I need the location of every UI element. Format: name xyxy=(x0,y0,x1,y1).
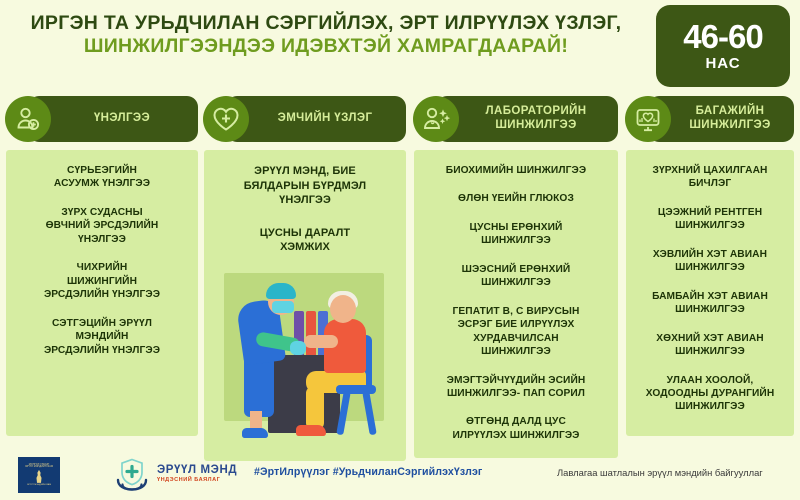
list-item: БИОХИМИЙН ШИНЖИЛГЭЭ xyxy=(420,164,612,177)
column-header-doctor-exam: ЭМЧИЙН ҮЗЛЭГ xyxy=(226,96,406,142)
ministry-of-health-logo: МОНГОЛ УЛСЫН ЭРҮҮЛ МЭНДИЙН ЯАМ ЭРҮҮЛ МЭН… xyxy=(18,457,60,493)
illustration-patient-shin xyxy=(306,387,324,429)
list-item: ӨЛӨН ҮЕИЙН ГЛЮКОЗ xyxy=(420,192,612,205)
list-item: ЦУСНЫ ЕРӨНХИЙ ШИНЖИЛГЭЭ xyxy=(420,221,612,248)
column-title: ЭМЧИЙН ҮЗЛЭГ xyxy=(278,112,373,126)
folder-red xyxy=(306,311,316,357)
person-plus-icon xyxy=(5,96,51,142)
list-item: СЭТГЭЦИЙН ЭРҮҮЛ МЭНДИЙН ЭРСДЭЛИЙН ҮНЭЛГЭ… xyxy=(12,317,192,357)
age-range-badge: 46-60 НАС xyxy=(656,5,790,87)
illustration-patient-head xyxy=(330,295,356,323)
health-logo-sub-text: ҮНДЭСНИЙ БАЯЛАГ xyxy=(157,477,237,484)
list-item: СҮРЬЕЭГИЙН АСУУМЖ ҮНЭЛГЭЭ xyxy=(12,164,192,191)
list-item: ГЕПАТИТ В, С ВИРУСЫН ЭСРЭГ БИЕ ИЛРҮҮЛЭХ … xyxy=(420,305,612,359)
column-title: ҮНЭЛГЭЭ xyxy=(94,112,150,126)
ministry-logo-top-text: МОНГОЛ УЛСЫН ЭРҮҮЛ МЭНДИЙН ЯАМ xyxy=(25,464,53,469)
list-item: ЗҮРХНИЙ ЦАХИЛГААН БИЧЛЭГ xyxy=(632,164,788,191)
column-header-instrumental: БАГАЖИЙН ШИНЖИЛГЭЭ xyxy=(648,96,794,142)
illustration-patient-shoe xyxy=(296,425,326,436)
health-logo-text: ЭРҮҮЛ МЭНД ҮНДЭСНИЙ БАЯЛАГ xyxy=(157,464,237,484)
column-body-assessment: СҮРЬЕЭГИЙН АСУУМЖ ҮНЭЛГЭЭ ЗҮРХ СУДАСНЫ Ө… xyxy=(6,150,198,436)
column-header-assessment: ҮНЭЛГЭЭ xyxy=(28,96,198,142)
column-title: БАГАЖИЙН ШИНЖИЛГЭЭ xyxy=(689,105,770,133)
list-item: ЭМЭГТЭЙЧҮҮДИЙН ЭСИЙН ШИНЖИЛГЭЭ- ПАП СОРИ… xyxy=(420,374,612,401)
column-body-instrumental: ЗҮРХНИЙ ЦАХИЛГААН БИЧЛЭГ ЦЭЭЖНИЙ РЕНТГЕН… xyxy=(626,150,794,436)
list-item: ЧИХРИЙН ШИЖИНГИЙН ЭРСДЭЛИЙН ҮНЭЛГЭЭ xyxy=(12,261,192,301)
list-item: ХЭВЛИЙН ХЭТ АВИАН ШИНЖИЛГЭЭ xyxy=(632,248,788,275)
column-laboratory: ЛАБОРАТОРИЙН ШИНЖИЛГЭЭ БИОХИМИЙН ШИНЖИЛГ… xyxy=(414,96,618,458)
list-item: ЦУСНЫ ДАРАЛТ ХЭМЖИХ xyxy=(210,226,400,255)
column-body-laboratory: БИОХИМИЙН ШИНЖИЛГЭЭ ӨЛӨН ҮЕИЙН ГЛЮКОЗ ЦУ… xyxy=(414,150,618,458)
illustration-nurse-glove xyxy=(290,341,306,355)
illustration-nurse-mask xyxy=(272,301,294,313)
column-title: ЛАБОРАТОРИЙН ШИНЖИЛГЭЭ xyxy=(486,105,587,133)
footer: МОНГОЛ УЛСЫН ЭРҮҮЛ МЭНДИЙН ЯАМ ЭРҮҮЛ МЭН… xyxy=(0,448,800,500)
list-item: ӨТГӨНД ДАЛД ЦУС ИЛРҮҮЛЭХ ШИНЖИЛГЭЭ xyxy=(420,415,612,442)
header-banner: ИРГЭН ТА УРЬДЧИЛАН СЭРГИЙЛЭХ, ЭРТ ИЛРҮҮЛ… xyxy=(0,0,800,92)
health-national-wealth-logo: ЭРҮҮЛ МЭНД ҮНДЭСНИЙ БАЯЛАГ xyxy=(112,454,237,494)
illustration-nurse-cap xyxy=(266,283,296,299)
hashtags: #ЭртИлрүүлэг #УрьдчиланСэргийлэхҮзлэг xyxy=(254,466,482,478)
column-header-laboratory: ЛАБОРАТОРИЙН ШИНЖИЛГЭЭ xyxy=(436,96,618,142)
illustration-nurse-shoe xyxy=(242,428,268,438)
column-instrumental: БАГАЖИЙН ШИНЖИЛГЭЭ ЗҮРХНИЙ ЦАХИЛГААН БИЧ… xyxy=(626,96,794,436)
list-item: ШЭЭСНИЙ ЕРӨНХИЙ ШИНЖИЛГЭЭ xyxy=(420,263,612,290)
list-item: ЭРҮҮЛ МЭНД, БИЕ БЯЛДАРЫН БҮРДМЭЛ ҮНЭЛГЭЭ xyxy=(210,164,400,208)
list-item: ЗҮРХ СУДАСНЫ ӨВЧНИЙ ЭРСДЭЛИЙН ҮНЭЛГЭЭ xyxy=(12,206,192,246)
title-line-2: ШИНЖИЛГЭЭНДЭЭ ИДЭВХТЭЙ ХАМРАГДААРАЙ! xyxy=(8,35,644,58)
page-title: ИРГЭН ТА УРЬДЧИЛАН СЭРГИЙЛЭХ, ЭРТ ИЛРҮҮЛ… xyxy=(8,12,644,58)
age-range-unit: НАС xyxy=(705,55,740,73)
illustration-chair-seat xyxy=(336,385,376,394)
column-assessment: ҮНЭЛГЭЭ СҮРЬЕЭГИЙН АСУУМЖ ҮНЭЛГЭЭ ЗҮРХ С… xyxy=(6,96,198,436)
lab-person-icon xyxy=(413,96,459,142)
shield-hands-cross-icon xyxy=(112,454,152,494)
list-item: БАМБАЙН ХЭТ АВИАН ШИНЖИЛГЭЭ xyxy=(632,290,788,317)
reference-note: Лавлагаа шатлалын эрүүл мэндийн байгуулл… xyxy=(557,467,763,478)
column-doctor-exam: ЭМЧИЙН ҮЗЛЭГ ЭРҮҮЛ МЭНД, БИЕ БЯЛДАРЫН БҮ… xyxy=(204,96,406,461)
monitor-heartbeat-icon xyxy=(625,96,671,142)
heart-cross-icon xyxy=(203,96,249,142)
ministry-emblem-icon xyxy=(35,470,44,483)
list-item: ЦЭЭЖНИЙ РЕНТГЕН ШИНЖИЛГЭЭ xyxy=(632,206,788,233)
column-body-doctor-exam: ЭРҮҮЛ МЭНД, БИЕ БЯЛДАРЫН БҮРДМЭЛ ҮНЭЛГЭЭ… xyxy=(204,150,406,461)
list-item: ХӨХНИЙ ХЭТ АВИАН ШИНЖИЛГЭЭ xyxy=(632,332,788,359)
ministry-logo-bottom-text: ЭРҮҮЛ МЭНДИЙН ЯАМ xyxy=(27,484,51,487)
health-logo-main-text: ЭРҮҮЛ МЭНД xyxy=(157,464,237,476)
illustration-patient-arm xyxy=(304,335,338,348)
service-columns: ҮНЭЛГЭЭ СҮРЬЕЭГИЙН АСУУМЖ ҮНЭЛГЭЭ ЗҮРХ С… xyxy=(0,96,800,446)
age-range-value: 46-60 xyxy=(683,20,762,53)
nurse-drawing-blood-illustration xyxy=(210,273,400,445)
list-item: УЛААН ХООЛОЙ, ХОДООДНЫ ДУРАНГИЙН ШИНЖИЛГ… xyxy=(632,374,788,414)
title-line-1: ИРГЭН ТА УРЬДЧИЛАН СЭРГИЙЛЭХ, ЭРТ ИЛРҮҮЛ… xyxy=(8,12,644,35)
